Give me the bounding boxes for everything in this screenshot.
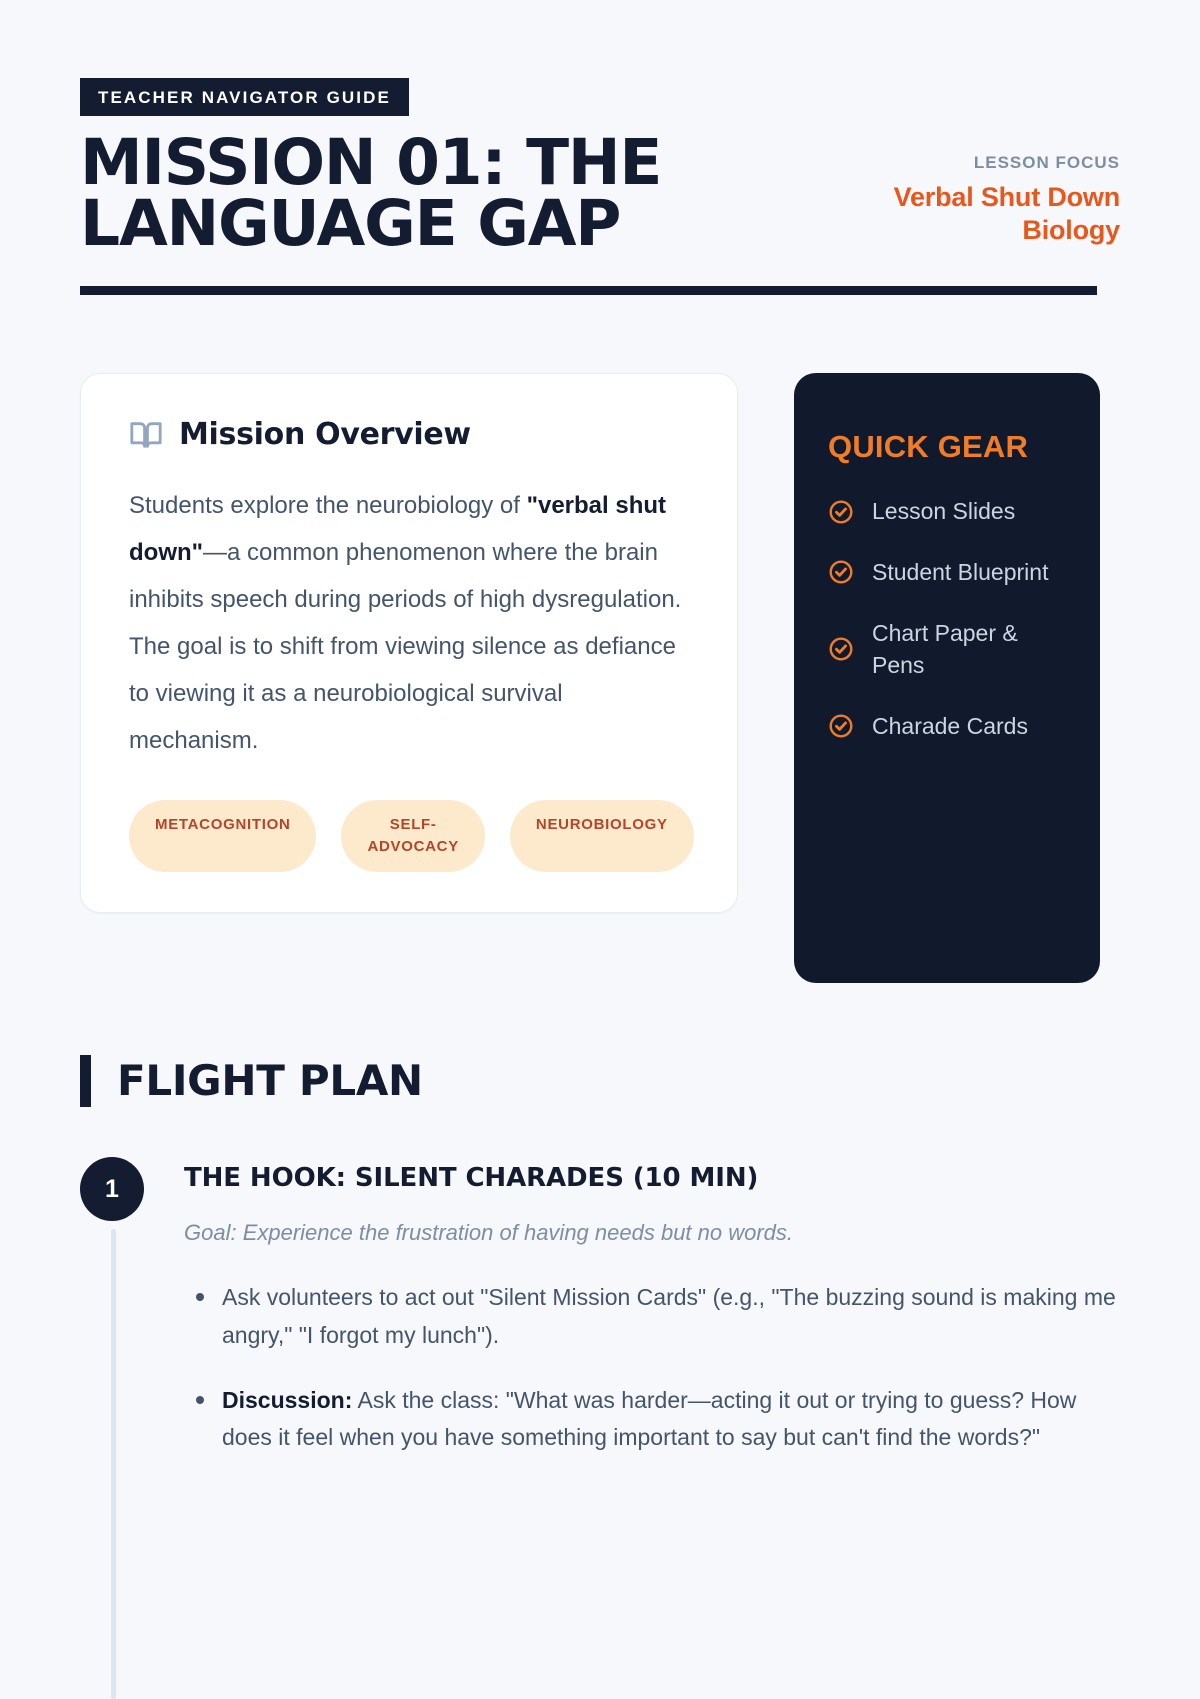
tag-chip[interactable]: SELF-ADVOCACY: [341, 800, 484, 872]
quick-gear-panel: QUICK GEAR Lesson Slides: [794, 373, 1100, 983]
step-title: THE HOOK: SILENT CHARADES (10 MIN): [184, 1163, 1120, 1194]
tag-chip[interactable]: NEUROBIOLOGY: [510, 800, 694, 872]
header-row: MISSION 01: THE LANGUAGE GAP LESSON FOCU…: [80, 132, 1120, 254]
page-title: MISSION 01: THE LANGUAGE GAP: [80, 132, 780, 254]
step-number-badge: 1: [80, 1157, 144, 1221]
tag-chip[interactable]: METACOGNITION: [129, 800, 316, 872]
quick-gear-list: Lesson Slides Student Blueprint: [828, 495, 1066, 742]
mission-overview-title: Mission Overview: [179, 420, 471, 450]
step-body: THE HOOK: SILENT CHARADES (10 MIN) Goal:…: [184, 1157, 1120, 1456]
open-book-icon: [129, 418, 163, 452]
list-item[interactable]: Chart Paper & Pens: [828, 617, 1066, 682]
main-grid: Mission Overview Students explore the ne…: [80, 373, 1120, 983]
check-circle-icon: [828, 499, 854, 525]
overview-text-rest: —a common phenomenon where the brain inh…: [129, 539, 681, 754]
bullet-lead: Discussion:: [222, 1387, 352, 1413]
quick-gear-title: QUICK GEAR: [828, 425, 1066, 469]
tag-list: METACOGNITION SELF-ADVOCACY NEUROBIOLOGY: [129, 800, 689, 872]
teacher-guide-page: TEACHER NAVIGATOR GUIDE MISSION 01: THE …: [0, 0, 1200, 1600]
overview-text-lead: Students explore the neurobiology of: [129, 492, 527, 519]
step-timeline-line: [111, 1229, 116, 1699]
list-item[interactable]: Lesson Slides: [828, 495, 1066, 528]
lesson-focus-label: LESSON FOCUS: [830, 154, 1120, 171]
step-bullet-list: Ask volunteers to act out "Silent Missio…: [184, 1279, 1120, 1456]
check-circle-icon: [828, 636, 854, 662]
check-circle-icon: [828, 559, 854, 585]
gear-item-label: Student Blueprint: [872, 556, 1048, 589]
mission-overview-card: Mission Overview Students explore the ne…: [80, 373, 738, 913]
page-header: TEACHER NAVIGATOR GUIDE MISSION 01: THE …: [80, 0, 1120, 295]
header-divider: [80, 286, 1097, 295]
list-item[interactable]: Charade Cards: [828, 710, 1066, 743]
flight-plan-step: 1 THE HOOK: SILENT CHARADES (10 MIN) Goa…: [80, 1157, 1120, 1456]
lesson-focus-value: Verbal Shut Down Biology: [830, 181, 1120, 247]
guide-badge: TEACHER NAVIGATOR GUIDE: [80, 78, 409, 116]
check-circle-icon: [828, 713, 854, 739]
gear-item-label: Chart Paper & Pens: [872, 617, 1066, 682]
list-item: Discussion: Ask the class: "What was har…: [184, 1382, 1120, 1457]
bullet-text: Ask volunteers to act out "Silent Missio…: [222, 1284, 1116, 1347]
flight-plan-section: FLIGHT PLAN 1 THE HOOK: SILENT CHARADES …: [80, 1055, 1120, 1456]
list-item[interactable]: Student Blueprint: [828, 556, 1066, 589]
list-item: Ask volunteers to act out "Silent Missio…: [184, 1279, 1120, 1354]
mission-overview-header: Mission Overview: [129, 418, 689, 452]
lesson-focus: LESSON FOCUS Verbal Shut Down Biology: [830, 132, 1120, 247]
gear-item-label: Charade Cards: [872, 710, 1028, 743]
gear-item-label: Lesson Slides: [872, 495, 1015, 528]
section-accent-bar: [80, 1055, 91, 1107]
flight-plan-header: FLIGHT PLAN: [80, 1055, 1120, 1107]
mission-overview-body: Students explore the neurobiology of "ve…: [129, 482, 689, 764]
step-goal: Goal: Experience the frustration of havi…: [184, 1216, 1120, 1249]
step-rail: 1: [80, 1157, 184, 1456]
flight-plan-title: FLIGHT PLAN: [117, 1060, 423, 1102]
